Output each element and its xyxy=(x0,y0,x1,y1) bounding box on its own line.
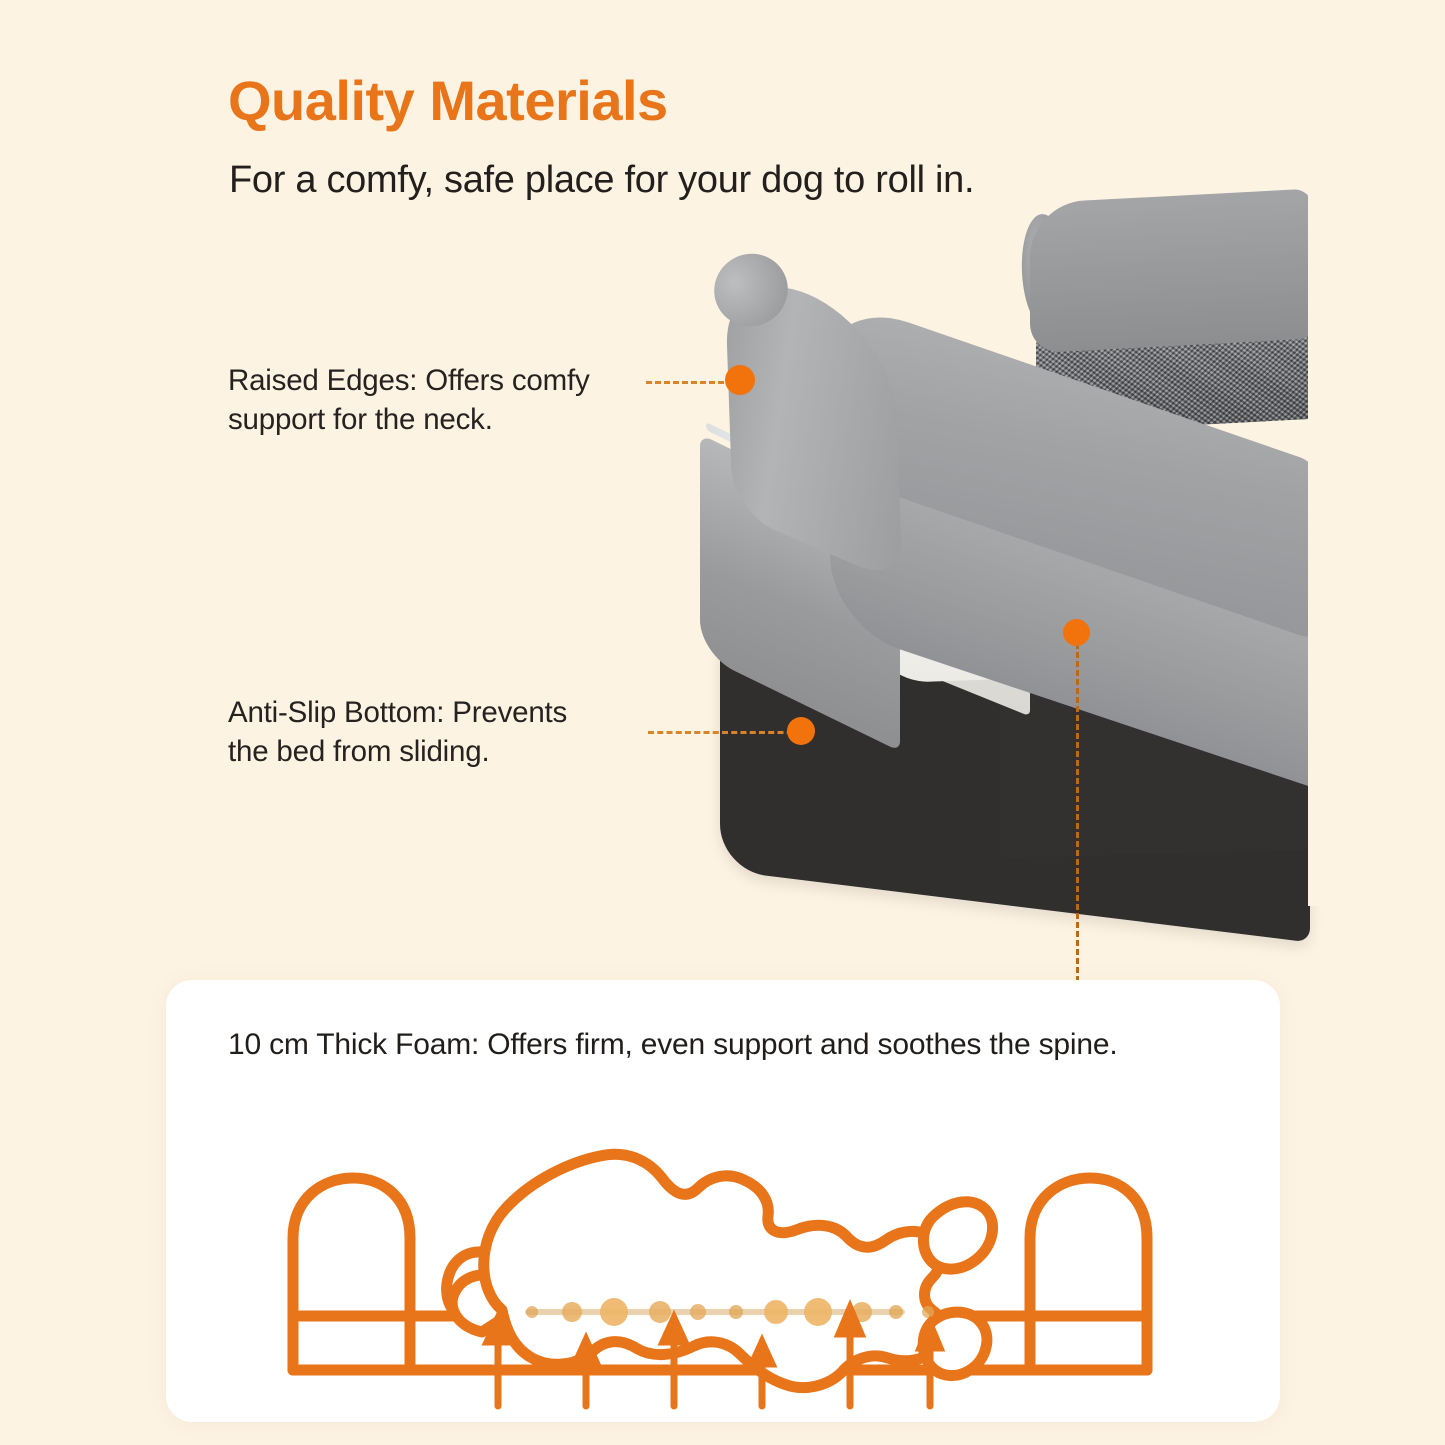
support-arrow xyxy=(663,1318,685,1406)
dog-on-bed-illustration xyxy=(270,1120,1180,1410)
callout-anti-slip-connector xyxy=(648,731,802,734)
callout-anti-slip-label: Anti-Slip Bottom: Prevents the bed from … xyxy=(228,694,658,772)
callout-raised-edges-label: Raised Edges: Offers comfy support for t… xyxy=(228,362,658,440)
callout-raised-edges-dot-icon xyxy=(725,365,755,395)
product-photo xyxy=(700,196,1312,876)
infographic-canvas: Quality Materials For a comfy, safe plac… xyxy=(0,0,1445,1445)
dog-outline xyxy=(447,1154,993,1387)
support-arrow xyxy=(487,1318,509,1406)
photo-crop-mask xyxy=(1308,166,1445,906)
callout-anti-slip-dot-icon xyxy=(787,717,815,745)
page-title: Quality Materials xyxy=(228,72,668,131)
callout-thick-foam-dot-icon xyxy=(1063,619,1090,646)
callout-thick-foam-label: 10 cm Thick Foam: Offers firm, even supp… xyxy=(228,1028,1117,1062)
rear-bolster xyxy=(1030,189,1312,354)
callout-thick-foam-connector xyxy=(1076,634,1079,982)
